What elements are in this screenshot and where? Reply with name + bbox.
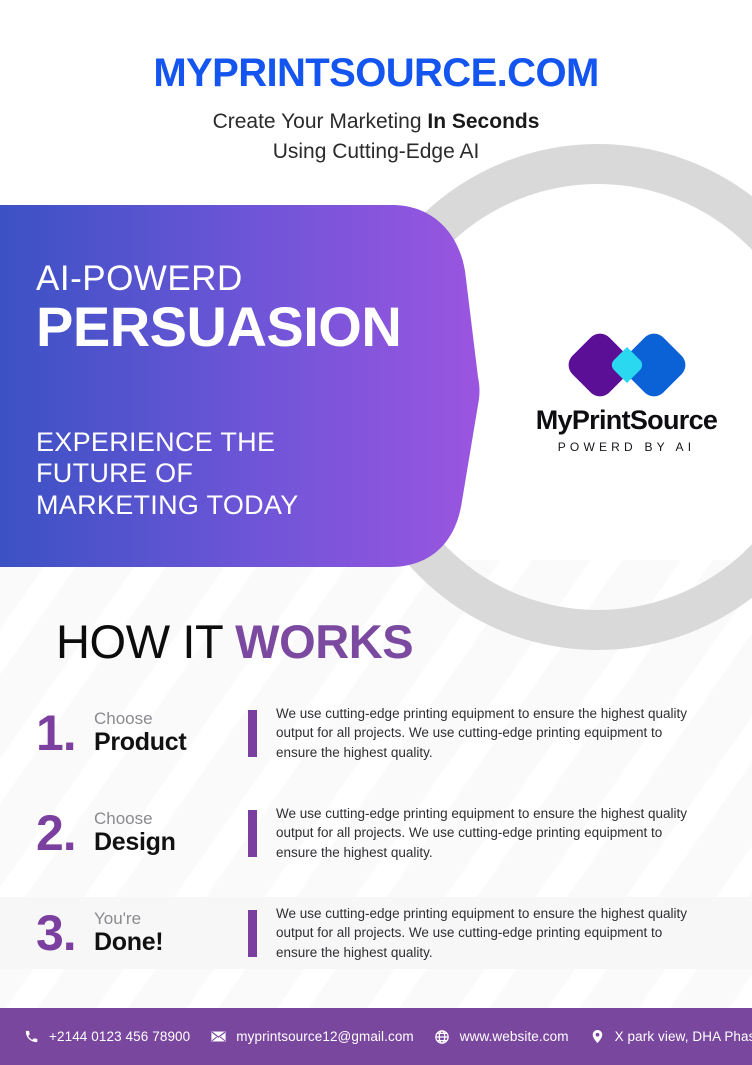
step-pre-label: You're: [94, 909, 242, 929]
diamond-logo-icon: [566, 322, 688, 400]
contact-email[interactable]: myprintsource12@gmail.com: [209, 1027, 414, 1046]
step-accent-bar: [248, 910, 257, 957]
step-item-3: 3. You're Done! We use cutting-edge prin…: [0, 897, 752, 969]
hero-subtitle-line-1: EXPERIENCE THE: [36, 427, 275, 457]
step-label-group: You're Done!: [92, 909, 242, 957]
contact-website[interactable]: www.website.com: [433, 1027, 569, 1046]
steps-list: 1. Choose Product We use cutting-edge pr…: [0, 697, 752, 997]
step-name: Product: [94, 729, 242, 757]
section-heading-light: HOW IT: [56, 615, 235, 668]
step-body-text: We use cutting-edge printing equipment t…: [276, 704, 696, 763]
hero-kicker: AI-POWERD: [36, 261, 436, 296]
step-pre-label: Choose: [94, 809, 242, 829]
contact-phone-text: +2144 0123 456 78900: [49, 1030, 190, 1044]
logo-wordmark: MyPrintSource: [505, 407, 748, 434]
tagline-normal: Create Your Marketing: [213, 110, 428, 133]
brand-url: MYPRINTSOURCE.COM: [0, 52, 752, 94]
hero-subtitle: EXPERIENCE THE FUTURE OF MARKETING TODAY: [36, 427, 436, 521]
footer-contact-bar: +2144 0123 456 78900 myprintsource12@gma…: [0, 1008, 752, 1065]
header: MYPRINTSOURCE.COM Create Your Marketing …: [0, 52, 752, 167]
phone-icon: [22, 1027, 41, 1046]
contact-phone[interactable]: +2144 0123 456 78900: [22, 1027, 190, 1046]
step-pre-label: Choose: [94, 709, 242, 729]
section-heading-how-it-works: HOW IT WORKS: [56, 618, 413, 665]
contact-address-text: X park view, DHA Phase 8: [615, 1030, 752, 1044]
step-label-group: Choose Design: [92, 809, 242, 857]
contact-website-text: www.website.com: [460, 1030, 569, 1044]
step-item-1: 1. Choose Product We use cutting-edge pr…: [0, 697, 752, 769]
logo-tagline: POWERD BY AI: [505, 441, 748, 453]
contact-address[interactable]: X park view, DHA Phase 8: [588, 1027, 752, 1046]
step-name: Done!: [94, 929, 242, 957]
logo-lockup: MyPrintSource POWERD BY AI: [505, 322, 748, 453]
hero-subtitle-line-3: MARKETING TODAY: [36, 490, 299, 520]
step-item-2: 2. Choose Design We use cutting-edge pri…: [0, 797, 752, 869]
tagline-line2: Using Cutting-Edge AI: [273, 140, 480, 163]
poster-canvas: MYPRINTSOURCE.COM Create Your Marketing …: [0, 0, 752, 1065]
step-name: Design: [94, 829, 242, 857]
step-accent-bar: [248, 710, 257, 757]
hero-banner: AI-POWERD PERSUASION EXPERIENCE THE FUTU…: [0, 205, 480, 567]
contact-email-text: myprintsource12@gmail.com: [236, 1030, 414, 1044]
step-number: 2.: [36, 808, 92, 858]
hero-subtitle-line-2: FUTURE OF: [36, 458, 193, 488]
header-tagline: Create Your Marketing In Seconds Using C…: [0, 107, 752, 167]
step-body-text: We use cutting-edge printing equipment t…: [276, 904, 696, 963]
hero-text-block: AI-POWERD PERSUASION: [36, 261, 436, 355]
location-pin-icon: [588, 1027, 607, 1046]
step-number: 3.: [36, 908, 92, 958]
globe-icon: [433, 1027, 452, 1046]
step-body-text: We use cutting-edge printing equipment t…: [276, 804, 696, 863]
step-accent-bar: [248, 810, 257, 857]
hero-title: PERSUASION: [36, 298, 436, 355]
envelope-icon: [209, 1027, 228, 1046]
step-number: 1.: [36, 708, 92, 758]
tagline-bold: In Seconds: [427, 110, 539, 133]
section-heading-bold: WORKS: [235, 615, 413, 668]
step-label-group: Choose Product: [92, 709, 242, 757]
